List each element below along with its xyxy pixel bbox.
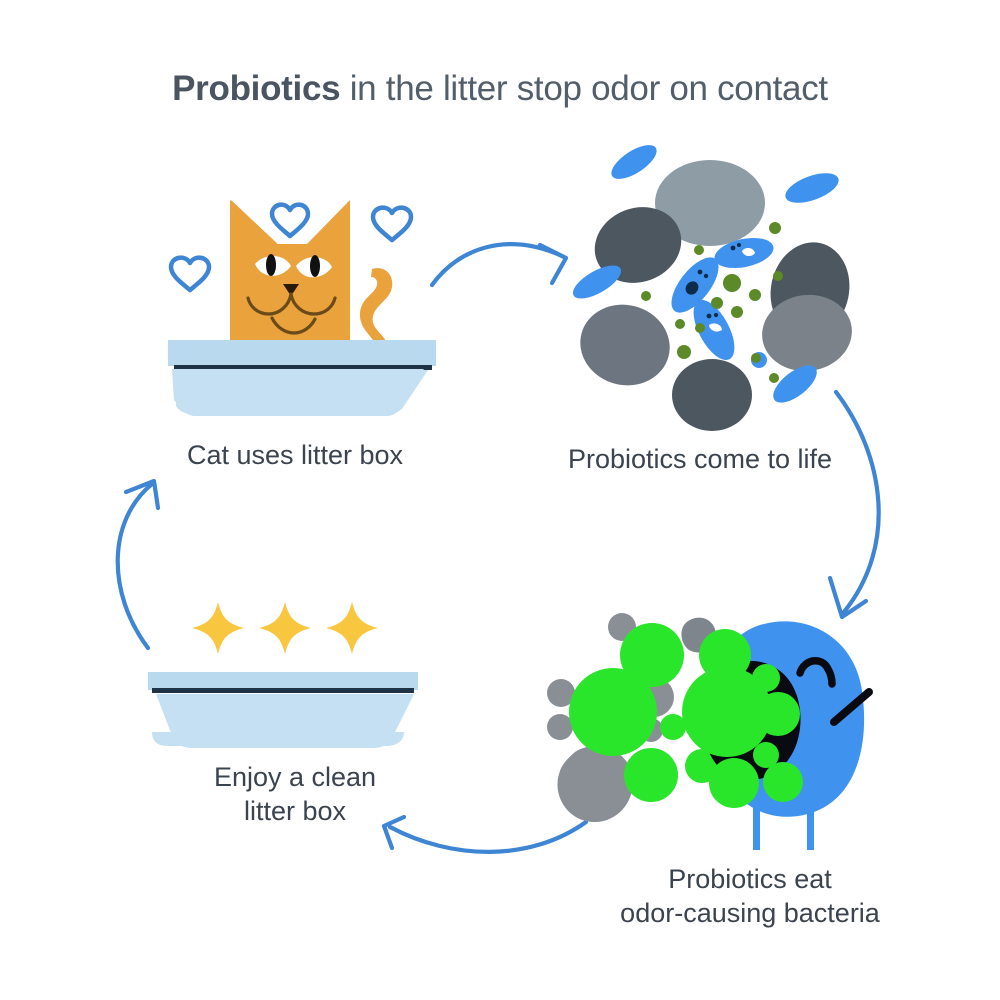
sparkle-icon: [192, 602, 378, 654]
litter-box-icon: [148, 672, 418, 748]
infographic-canvas: Probiotics in the litter stop odor on co…: [0, 0, 1000, 1000]
stage-clean-litter-box: [0, 0, 1000, 1000]
